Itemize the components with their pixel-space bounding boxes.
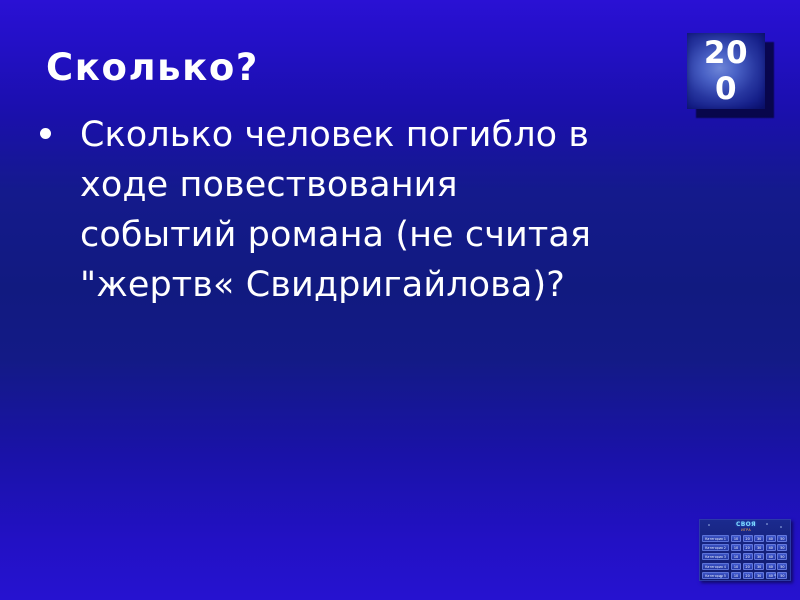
game-board-row: Категория 21020304050 [702, 543, 790, 551]
bullet-list-item: Сколько человек погибло в ходе повествов… [36, 110, 756, 310]
game-board-value-cell[interactable]: 50 [777, 535, 787, 542]
bullet-dot-icon [40, 128, 51, 139]
game-board-category-label[interactable]: Категория 1 [702, 535, 729, 542]
score-value: 200 [687, 33, 765, 109]
sparkle-icon [780, 526, 782, 528]
game-board-value-cell[interactable]: 20 [743, 572, 753, 579]
body-line-4: "жертв« Свидригайлова)? [80, 260, 756, 310]
game-logo: СВОЯ [700, 521, 791, 528]
game-board-category-label[interactable]: Категория 3 [702, 553, 729, 560]
game-board-value-cell[interactable]: 40 [766, 544, 776, 551]
sparkle-icon [720, 576, 722, 578]
body-line-1: Сколько человек погибло в [80, 110, 756, 160]
game-board-value-cell[interactable]: 10 [731, 563, 741, 570]
body-line-3: событий романа (не считая [80, 210, 756, 260]
game-board-value-cell[interactable]: 50 [777, 544, 787, 551]
game-board-grid: Категория 11020304050Категория 210203040… [702, 534, 790, 581]
game-board-value-cell[interactable]: 30 [754, 535, 764, 542]
game-board-value-cell[interactable]: 30 [754, 544, 764, 551]
game-board-value-cell[interactable]: 10 [731, 535, 741, 542]
game-board-category-label[interactable]: Категория 5 [702, 572, 729, 579]
game-board-value-cell[interactable]: 40 [766, 535, 776, 542]
game-board-row: Категория 51020304050 [702, 572, 790, 580]
game-board-value-cell[interactable]: 20 [743, 535, 753, 542]
sparkle-icon [774, 574, 776, 576]
game-board-value-cell[interactable]: 10 [731, 572, 741, 579]
game-board-value-cell[interactable]: 30 [754, 563, 764, 570]
body-line-2: ходе повествования [80, 160, 756, 210]
game-board-value-cell[interactable]: 40 [766, 563, 776, 570]
score-badge[interactable]: 200 [686, 32, 778, 122]
score-badge-panel: 200 [687, 33, 765, 109]
game-logo-subtitle: ИГРА [700, 528, 791, 532]
presentation-slide: Сколько? Сколько человек погибло в ходе … [0, 0, 800, 600]
game-board-row: Категория 41020304050 [702, 562, 790, 570]
game-board-value-cell[interactable]: 30 [754, 553, 764, 560]
game-board-value-cell[interactable]: 40 [766, 553, 776, 560]
game-board-row: Категория 31020304050 [702, 553, 790, 561]
sparkle-icon [766, 523, 768, 525]
game-board-value-cell[interactable]: 10 [731, 553, 741, 560]
sparkle-icon [708, 524, 710, 526]
game-board-value-cell[interactable]: 20 [743, 553, 753, 560]
game-board-value-cell[interactable]: 50 [777, 572, 787, 579]
game-board-value-cell[interactable]: 20 [743, 563, 753, 570]
slide-body: Сколько человек погибло в ходе повествов… [36, 110, 756, 310]
game-board-value-cell[interactable]: 10 [731, 544, 741, 551]
slide-title: Сколько? [46, 44, 666, 92]
game-board-category-label[interactable]: Категория 2 [702, 544, 729, 551]
game-board-category-label[interactable]: Категория 4 [702, 563, 729, 570]
game-board-value-cell[interactable]: 50 [777, 563, 787, 570]
game-board-value-cell[interactable]: 20 [743, 544, 753, 551]
game-board-row: Категория 11020304050 [702, 534, 790, 542]
game-board-value-cell[interactable]: 50 [777, 553, 787, 560]
game-board-thumbnail[interactable]: СВОЯ ИГРА Категория 11020304050Категория… [699, 519, 791, 581]
game-board-value-cell[interactable]: 30 [754, 572, 764, 579]
